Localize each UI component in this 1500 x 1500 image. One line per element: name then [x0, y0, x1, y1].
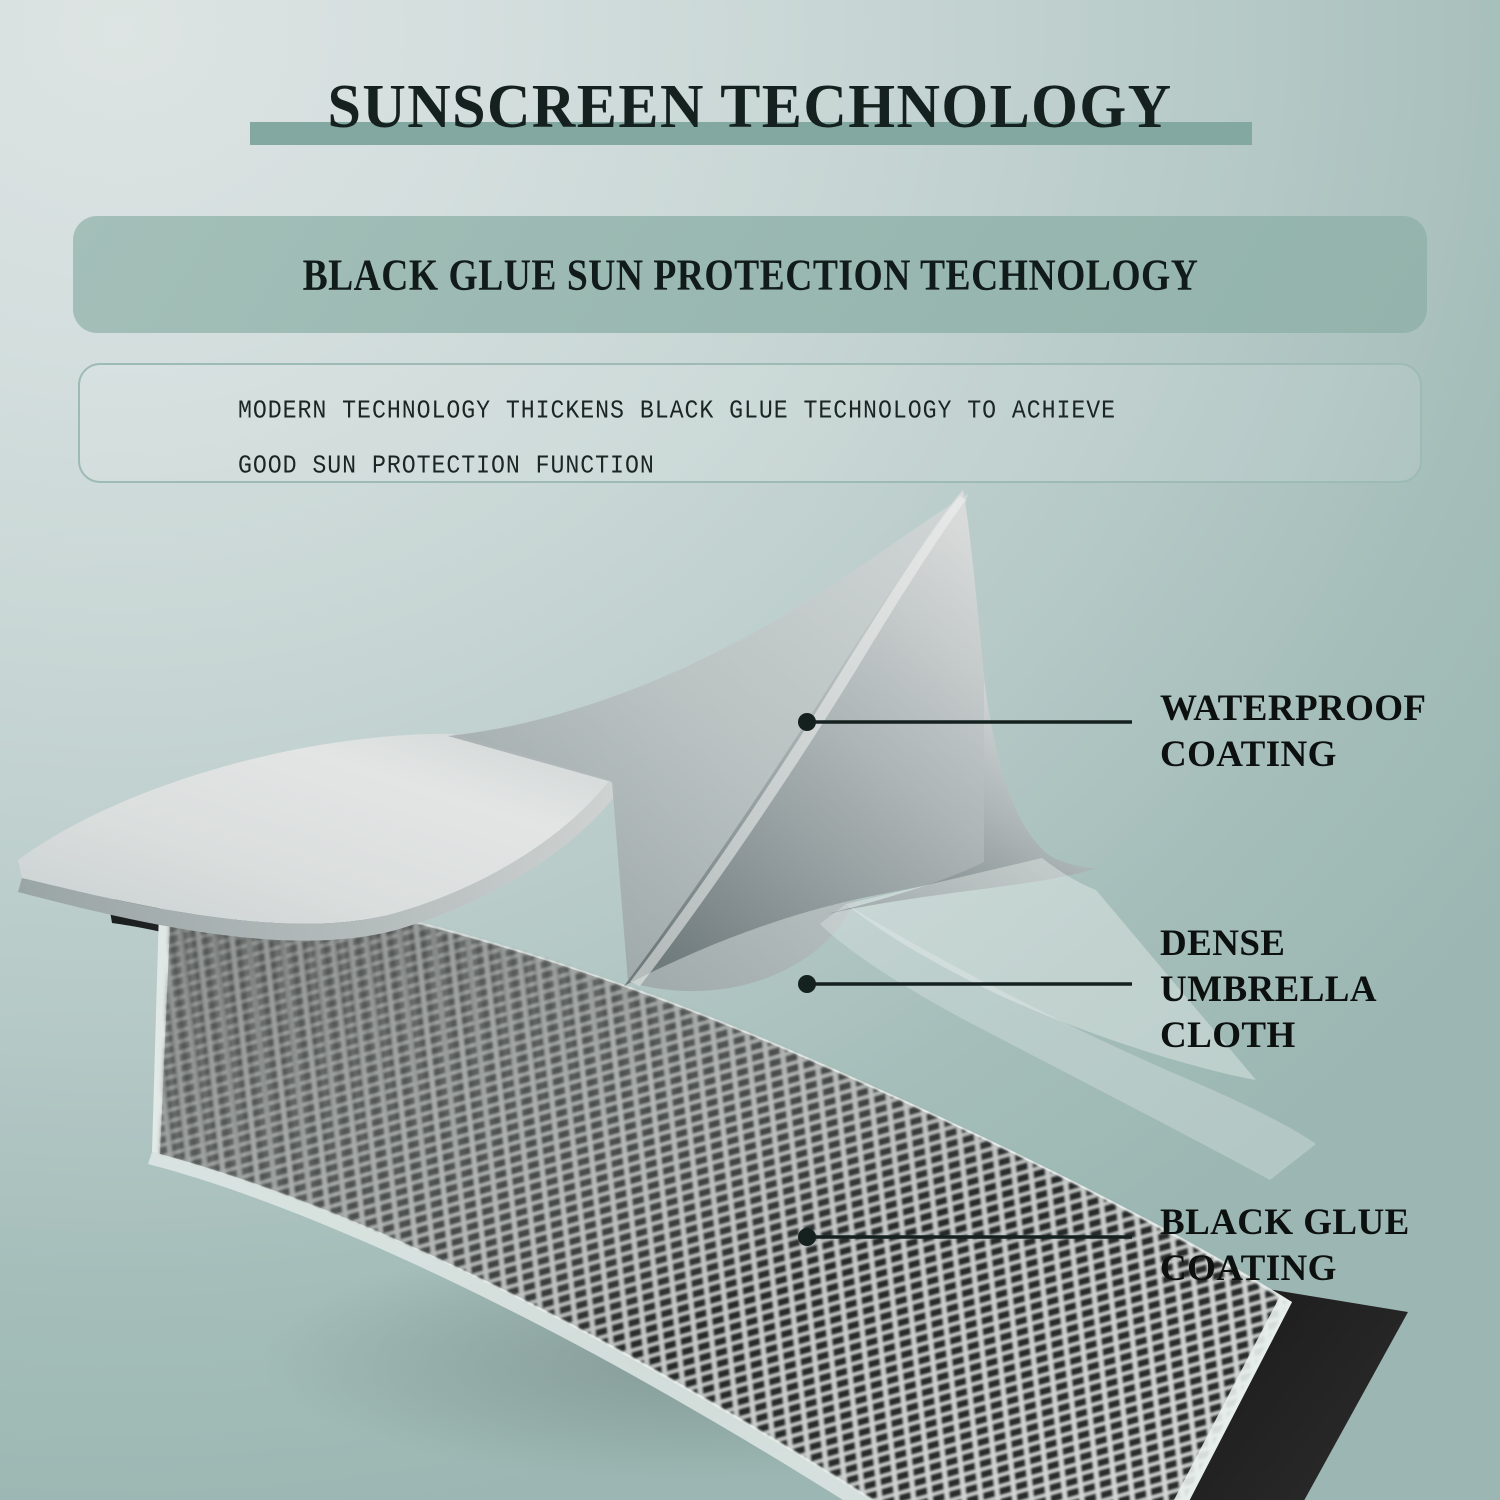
subtitle-text: BLACK GLUE SUN PROTECTION TECHNOLOGY: [302, 248, 1198, 301]
callout-label-black-glue-coating: BLACK GLUE COATING: [1160, 1200, 1410, 1292]
callout-label-dense-umbrella-cloth: DENSE UMBRELLA CLOTH: [1160, 921, 1377, 1059]
waterproof-flat-portion: [18, 734, 610, 924]
title-block: SUNSCREEN TECHNOLOGY: [0, 62, 1500, 154]
subtitle-banner: BLACK GLUE SUN PROTECTION TECHNOLOGY: [73, 216, 1427, 333]
page-title: SUNSCREEN TECHNOLOGY: [23, 62, 1478, 152]
infographic-page: SUNSCREEN TECHNOLOGY BLACK GLUE SUN PROT…: [0, 0, 1500, 1500]
description-box: MODERN TECHNOLOGY THICKENS BLACK GLUE TE…: [78, 363, 1422, 483]
description-line-1: MODERN TECHNOLOGY THICKENS BLACK GLUE TE…: [238, 382, 1300, 440]
callout-label-waterproof-coating: WATERPROOF COATING: [1160, 686, 1426, 778]
